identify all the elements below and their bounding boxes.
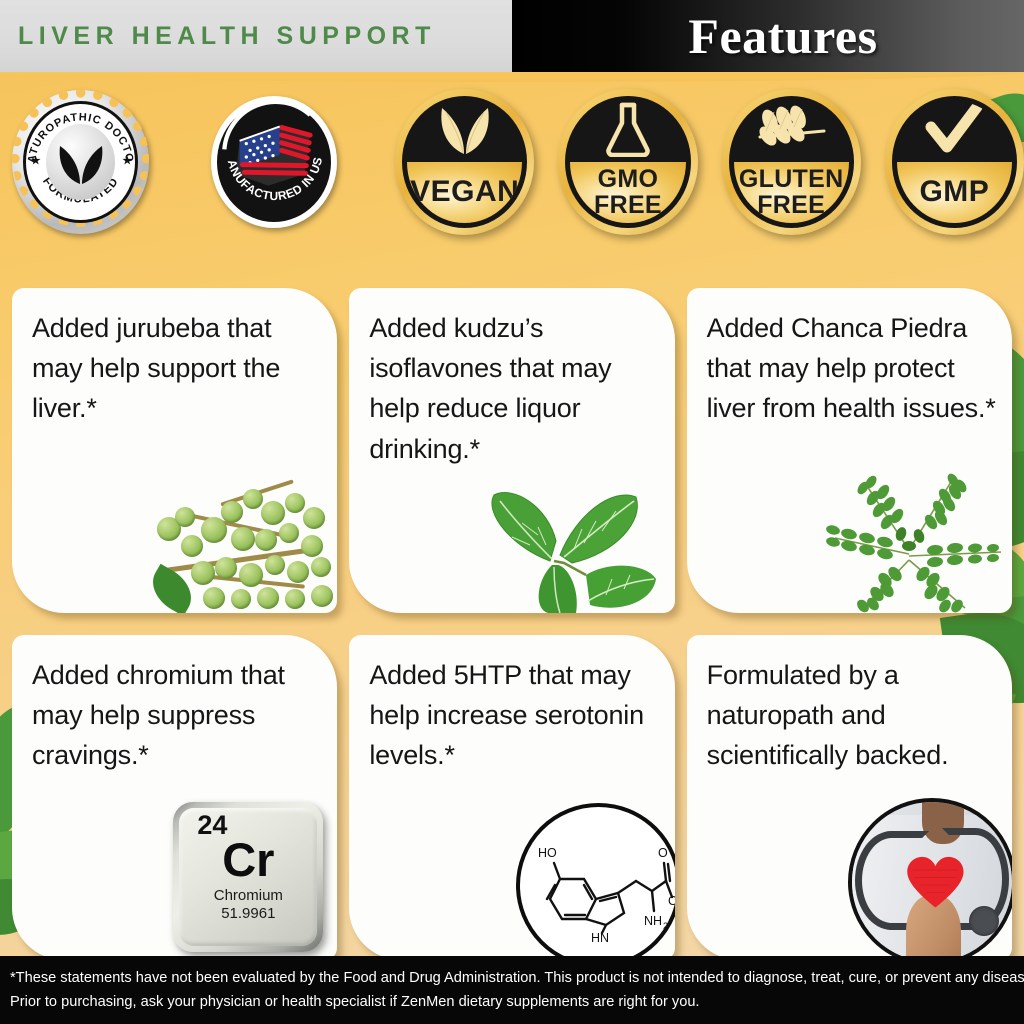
feature-card-chromium: Added chromium that may help suppress cr… — [12, 635, 337, 960]
gmo-label-line-2: FREE — [594, 193, 662, 219]
red-heart-icon — [905, 855, 966, 909]
gmo-label-line-1: GMO — [598, 167, 659, 193]
seal-star-right: ★ — [122, 153, 133, 167]
footer-disclaimer: *These statements have not been evaluate… — [0, 956, 1024, 1024]
feature-card-grid: Added jurubeba that may help support the… — [0, 288, 1024, 960]
element-tile-face: 24 Cr Chromium 51.9961 — [179, 808, 317, 946]
jurubeba-berries-image — [135, 461, 335, 611]
gluten-label-line-2: FREE — [757, 193, 825, 219]
molecule-structure: HO O OH HN NH 2 — [520, 807, 675, 960]
gluten-label-line-1: GLUTEN — [739, 167, 844, 193]
feature-card-text: Added Chanca Piedra that may help protec… — [687, 288, 1012, 429]
doctor-neck — [922, 798, 964, 844]
seal-center-disc — [46, 124, 115, 200]
doctor-hand — [906, 895, 960, 960]
chanca-piedra-frond-shapes — [805, 442, 1012, 613]
feature-card-text: Added chromium that may help suppress cr… — [12, 635, 337, 776]
wheat-icon — [754, 103, 828, 155]
feature-card-5htp: Added 5HTP that may help increase seroto… — [349, 635, 674, 960]
flask-icon — [603, 101, 653, 157]
certification-badge-row: NATUROPATHIC DOCTOR FORMULATED ★ ★ — [0, 82, 1024, 242]
feature-card-naturopath-formulated: Formulated by a naturopath and scientifi… — [687, 635, 1012, 960]
stethoscope-chestpiece — [969, 906, 999, 936]
molecule-label-amine-sub: 2 — [663, 921, 668, 931]
usa-badge-graphics: MANUFACTURED IN USA — [211, 96, 337, 222]
badge-manufactured-in-usa: MANUFACTURED IN USA — [211, 96, 337, 228]
gmp-icon-area — [897, 101, 1012, 162]
gluten-icon-area — [734, 101, 849, 162]
vegan-icon-area — [407, 101, 522, 162]
badge-gmp: GMP — [885, 89, 1024, 235]
disclaimer-line-2: Prior to purchasing, ask your physician … — [10, 991, 1012, 1015]
feature-card-text: Added jurubeba that may help support the… — [12, 288, 337, 429]
seal-star-left: ★ — [30, 153, 41, 167]
header-bar: LIVER HEALTH SUPPORT Features — [0, 0, 1024, 72]
badge-gmo-free: GMO FREE — [558, 89, 697, 235]
page-title: Features — [658, 7, 877, 65]
disclaimer-line-1: *These statements have not been evaluate… — [10, 967, 1012, 991]
stethoscope-right-tube — [942, 828, 1009, 930]
vegan-badge-face: VEGAN — [407, 101, 522, 223]
badge-gluten-free: GLUTEN FREE — [722, 89, 861, 235]
gmo-icon-area — [570, 101, 685, 162]
feature-card-chanca-piedra: Added Chanca Piedra that may help protec… — [687, 288, 1012, 613]
element-atomic-mass: 51.9961 — [221, 905, 275, 922]
two-leaves-icon — [434, 102, 496, 156]
feature-card-text: Added kudzu’s isoflavones that may help … — [349, 288, 674, 469]
feature-card-kudzu: Added kudzu’s isoflavones that may help … — [349, 288, 674, 613]
gmo-badge-label: GMO FREE — [570, 162, 685, 223]
molecule-label-amine: NH — [644, 914, 662, 928]
header-left-panel: LIVER HEALTH SUPPORT — [0, 0, 512, 72]
vegan-label-line-1: VEGAN — [410, 177, 519, 208]
molecule-label-hydroxyl: HO — [538, 846, 557, 860]
chromium-element-tile: 24 Cr Chromium 51.9961 — [173, 802, 323, 952]
kudzu-leaves-image — [460, 463, 675, 613]
gmo-badge-face: GMO FREE — [570, 101, 685, 223]
chanca-piedra-plant-image — [805, 442, 1012, 613]
element-symbol: Cr — [222, 837, 274, 883]
gmp-badge-label: GMP — [897, 162, 1012, 223]
stethoscope-icon — [855, 831, 929, 930]
header-right-panel: Features — [512, 0, 1024, 72]
molecule-label-carbonyl: O — [658, 846, 668, 860]
page-subtitle: LIVER HEALTH SUPPORT — [0, 22, 436, 51]
molecule-label-acid: OH — [668, 894, 675, 908]
element-atomic-number: 24 — [197, 812, 227, 839]
vegan-badge-label: VEGAN — [407, 162, 522, 223]
gluten-badge-label: GLUTEN FREE — [734, 162, 849, 223]
gluten-badge-face: GLUTEN FREE — [734, 101, 849, 223]
product-feature-infographic: LIVER HEALTH SUPPORT Features — [0, 0, 1024, 1024]
kudzu-leaf-shapes — [460, 463, 675, 613]
badge-vegan: VEGAN — [395, 89, 534, 235]
gmp-label-line-1: GMP — [919, 177, 989, 208]
doctor-holding-heart-image — [848, 798, 1012, 960]
feature-card-text: Formulated by a naturopath and scientifi… — [687, 635, 1012, 776]
checkmark-icon — [923, 103, 985, 155]
two-leaves-icon — [54, 138, 108, 186]
badge-naturopathic-doctor-formulated: NATUROPATHIC DOCTOR FORMULATED ★ ★ — [12, 90, 149, 234]
feature-card-jurubeba: Added jurubeba that may help support the… — [12, 288, 337, 613]
doctor-lab-coat — [848, 815, 1012, 960]
element-name: Chromium — [214, 887, 283, 904]
gmp-badge-face: GMP — [897, 101, 1012, 223]
molecule-label-indole-nh: HN — [591, 931, 609, 945]
5htp-molecule-diagram: HO O OH HN NH 2 — [516, 803, 675, 960]
feature-card-text: Added 5HTP that may help increase seroto… — [349, 635, 674, 776]
